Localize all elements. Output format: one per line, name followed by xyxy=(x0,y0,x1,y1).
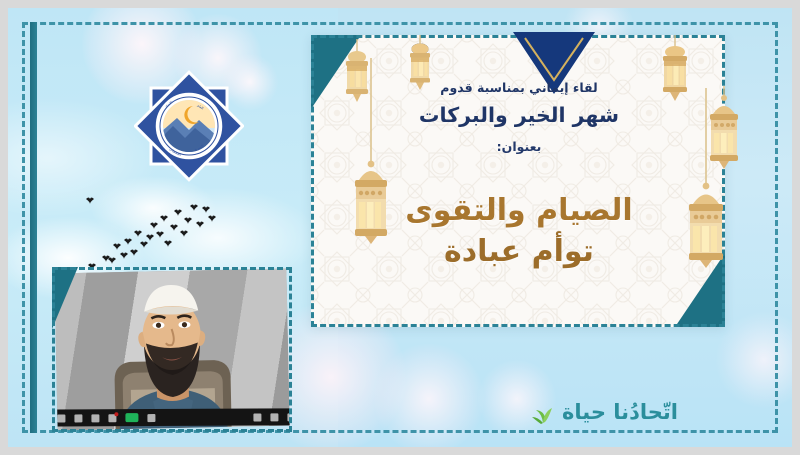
poster-month: شهر الخير والبركات xyxy=(331,103,707,129)
wifi-icon[interactable] xyxy=(270,413,278,421)
settings-icon[interactable] xyxy=(147,414,155,422)
video-call-window[interactable] xyxy=(52,267,292,432)
poster-stage: الاتحاد العام الجمعيات الخيرية xyxy=(0,0,800,455)
chat-icon[interactable] xyxy=(91,414,99,422)
bokeh-circle xyxy=(374,344,484,447)
notification-icon[interactable] xyxy=(108,414,116,422)
speaker-portrait xyxy=(54,269,289,431)
poster-title-line-2: توأم عبادة xyxy=(331,231,707,272)
camera-icon[interactable] xyxy=(125,413,138,422)
poster-kicker: لقاء إيماني بمناسبة قدوم xyxy=(331,80,707,96)
poster-headline-block: لقاء إيماني بمناسبة قدوم شهر الخير والبر… xyxy=(331,80,707,154)
poster-canvas: الاتحاد العام الجمعيات الخيرية xyxy=(8,8,792,447)
poster-frame-bar xyxy=(30,22,37,433)
video-feed xyxy=(54,269,289,431)
video-taskbar[interactable] xyxy=(54,408,289,426)
organization-emblem-icon: الاتحاد العام الجمعيات الخيرية xyxy=(134,70,244,182)
poster-title-line-1: الصيام والتقوى xyxy=(331,190,707,231)
video-corner-accent xyxy=(52,267,78,329)
volume-icon[interactable] xyxy=(287,413,289,421)
task-view-icon[interactable] xyxy=(74,414,82,422)
brand-text: اتّحادُنا حياة xyxy=(562,400,678,424)
leaf-icon xyxy=(530,399,556,425)
poster-title: الصيام والتقوى توأم عبادة xyxy=(331,190,707,273)
flock-of-birds-icon xyxy=(86,196,216,270)
search-icon[interactable] xyxy=(57,414,65,422)
battery-icon[interactable] xyxy=(253,413,261,421)
brand-lockup: اتّحادُنا حياة xyxy=(530,392,768,432)
poster-label: بعنوان: xyxy=(331,139,707,154)
